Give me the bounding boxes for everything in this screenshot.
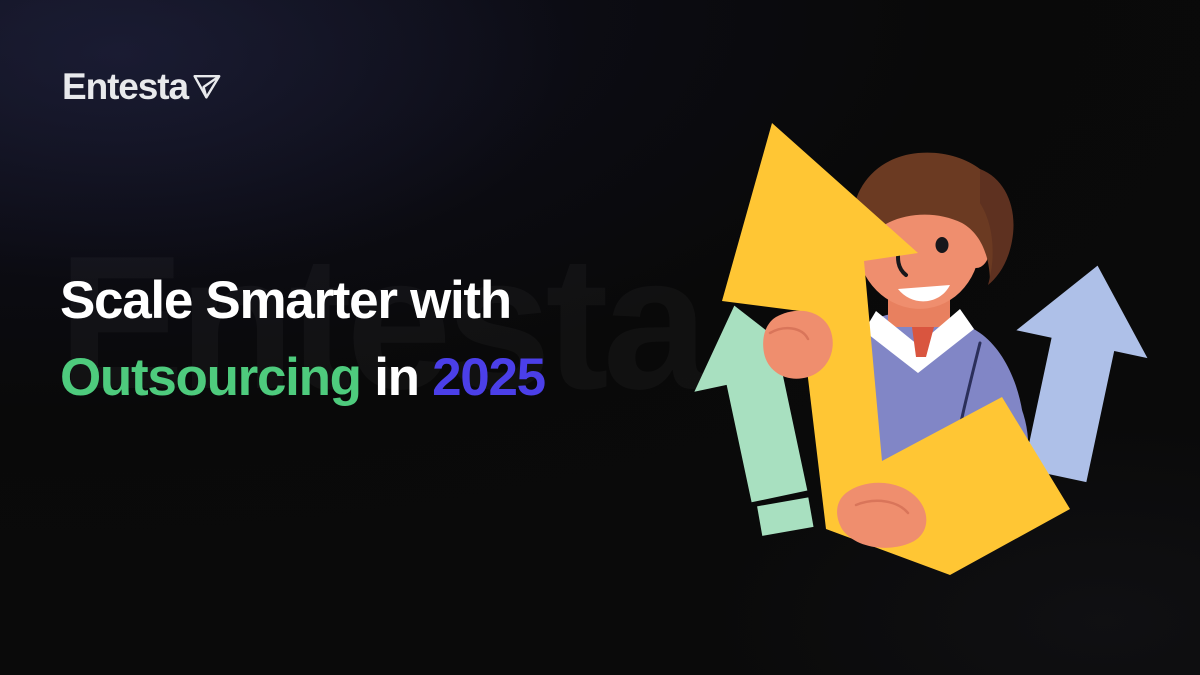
headline-line-2: Outsourcing in 2025 bbox=[60, 339, 545, 416]
headline-line-1: Scale Smarter with bbox=[60, 262, 545, 339]
headline-word-outsourcing: Outsourcing bbox=[60, 348, 361, 407]
send-triangle-icon bbox=[192, 72, 222, 105]
brand-logo[interactable]: Entesta bbox=[62, 68, 222, 105]
growth-arrows-person-illustration bbox=[650, 105, 1140, 555]
brand-logo-text: Entesta bbox=[62, 68, 188, 105]
hero-banner: Entesta Entesta Scale Smarter with Outso… bbox=[0, 0, 1200, 675]
headline-word-in: in bbox=[374, 348, 419, 407]
headline-word-year: 2025 bbox=[432, 348, 545, 407]
page-title: Scale Smarter with Outsourcing in 2025 bbox=[60, 262, 545, 417]
upper-hand bbox=[763, 311, 833, 379]
headline-line-1-text: Scale Smarter with bbox=[60, 271, 511, 330]
